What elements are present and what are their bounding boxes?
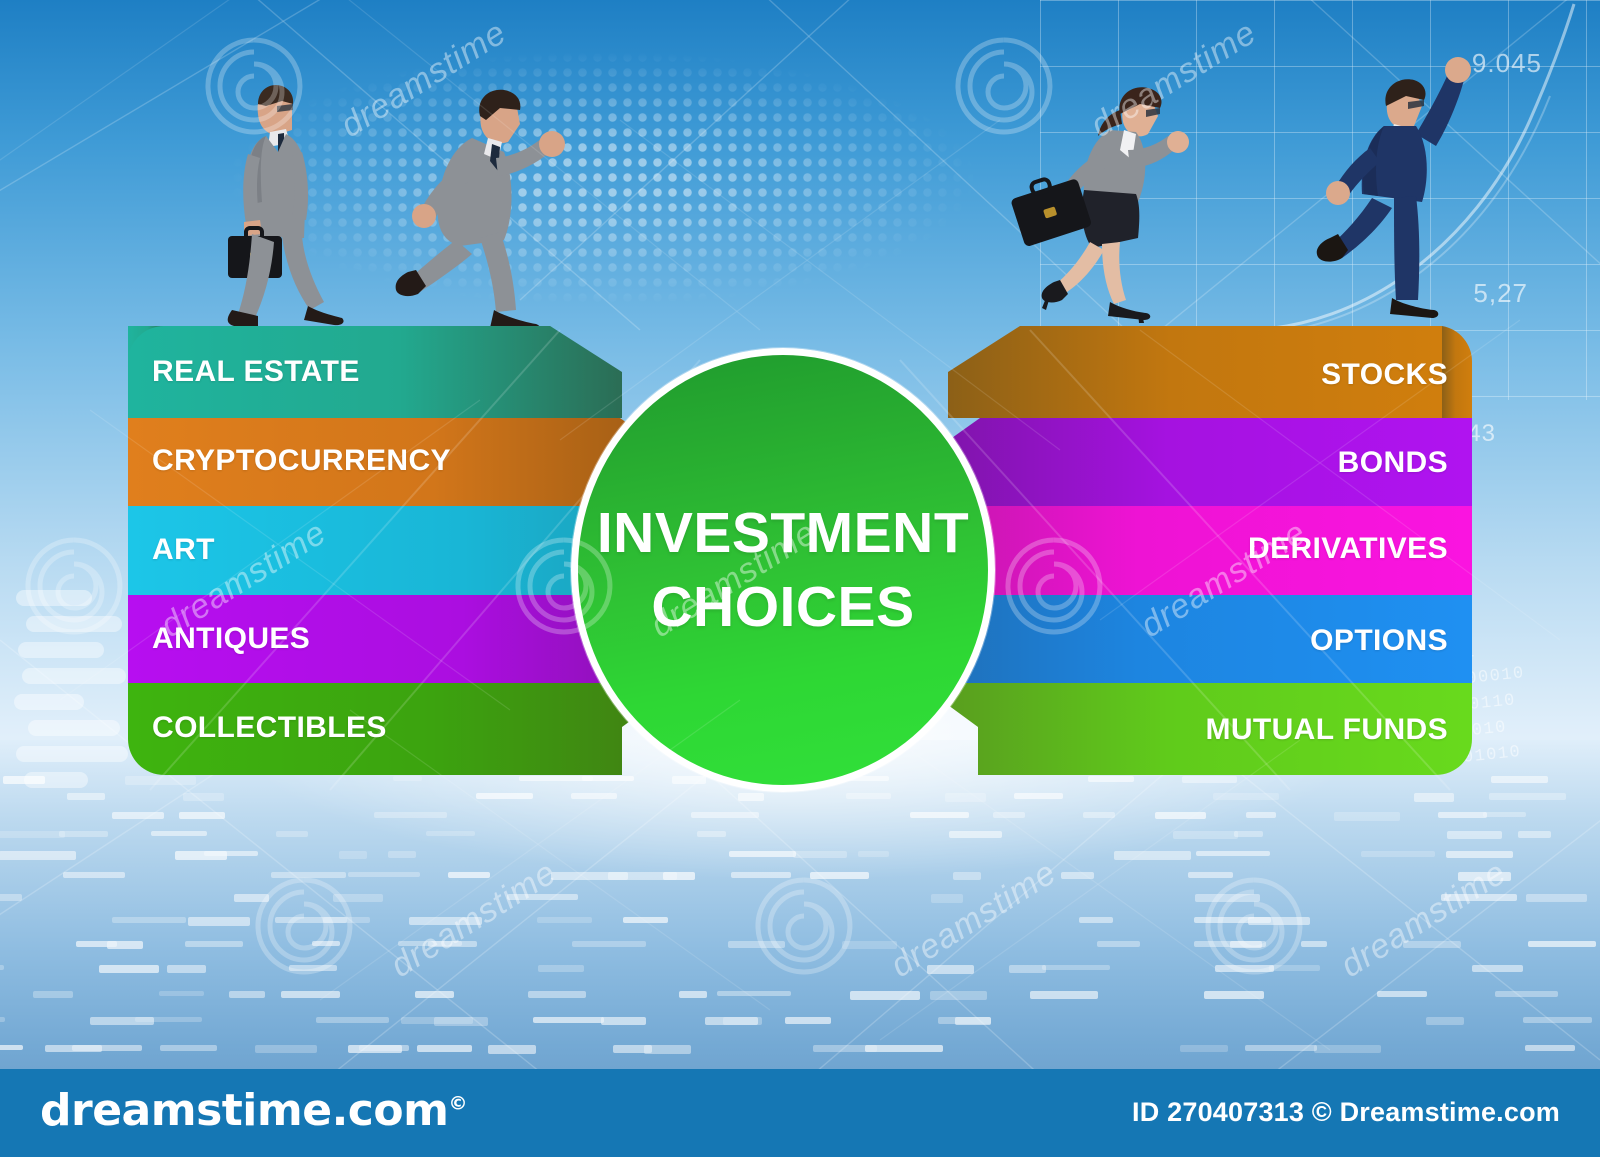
screenshot-root: 9.045 5,27 103.143 0111001101 0110100010…	[0, 0, 1600, 1157]
dreamstime-logo-text: dreamstime.com	[40, 1085, 448, 1136]
dreamstime-logo-mark: ©	[448, 1092, 467, 1114]
image-credit: ID 270407313 © Dreamstime.com	[1132, 1097, 1560, 1128]
watermark-crosshatch	[0, 0, 1600, 1157]
footer-bar: dreamstime.com© ID 270407313 © Dreamstim…	[0, 1069, 1600, 1157]
dreamstime-logo[interactable]: dreamstime.com©	[40, 1085, 467, 1136]
